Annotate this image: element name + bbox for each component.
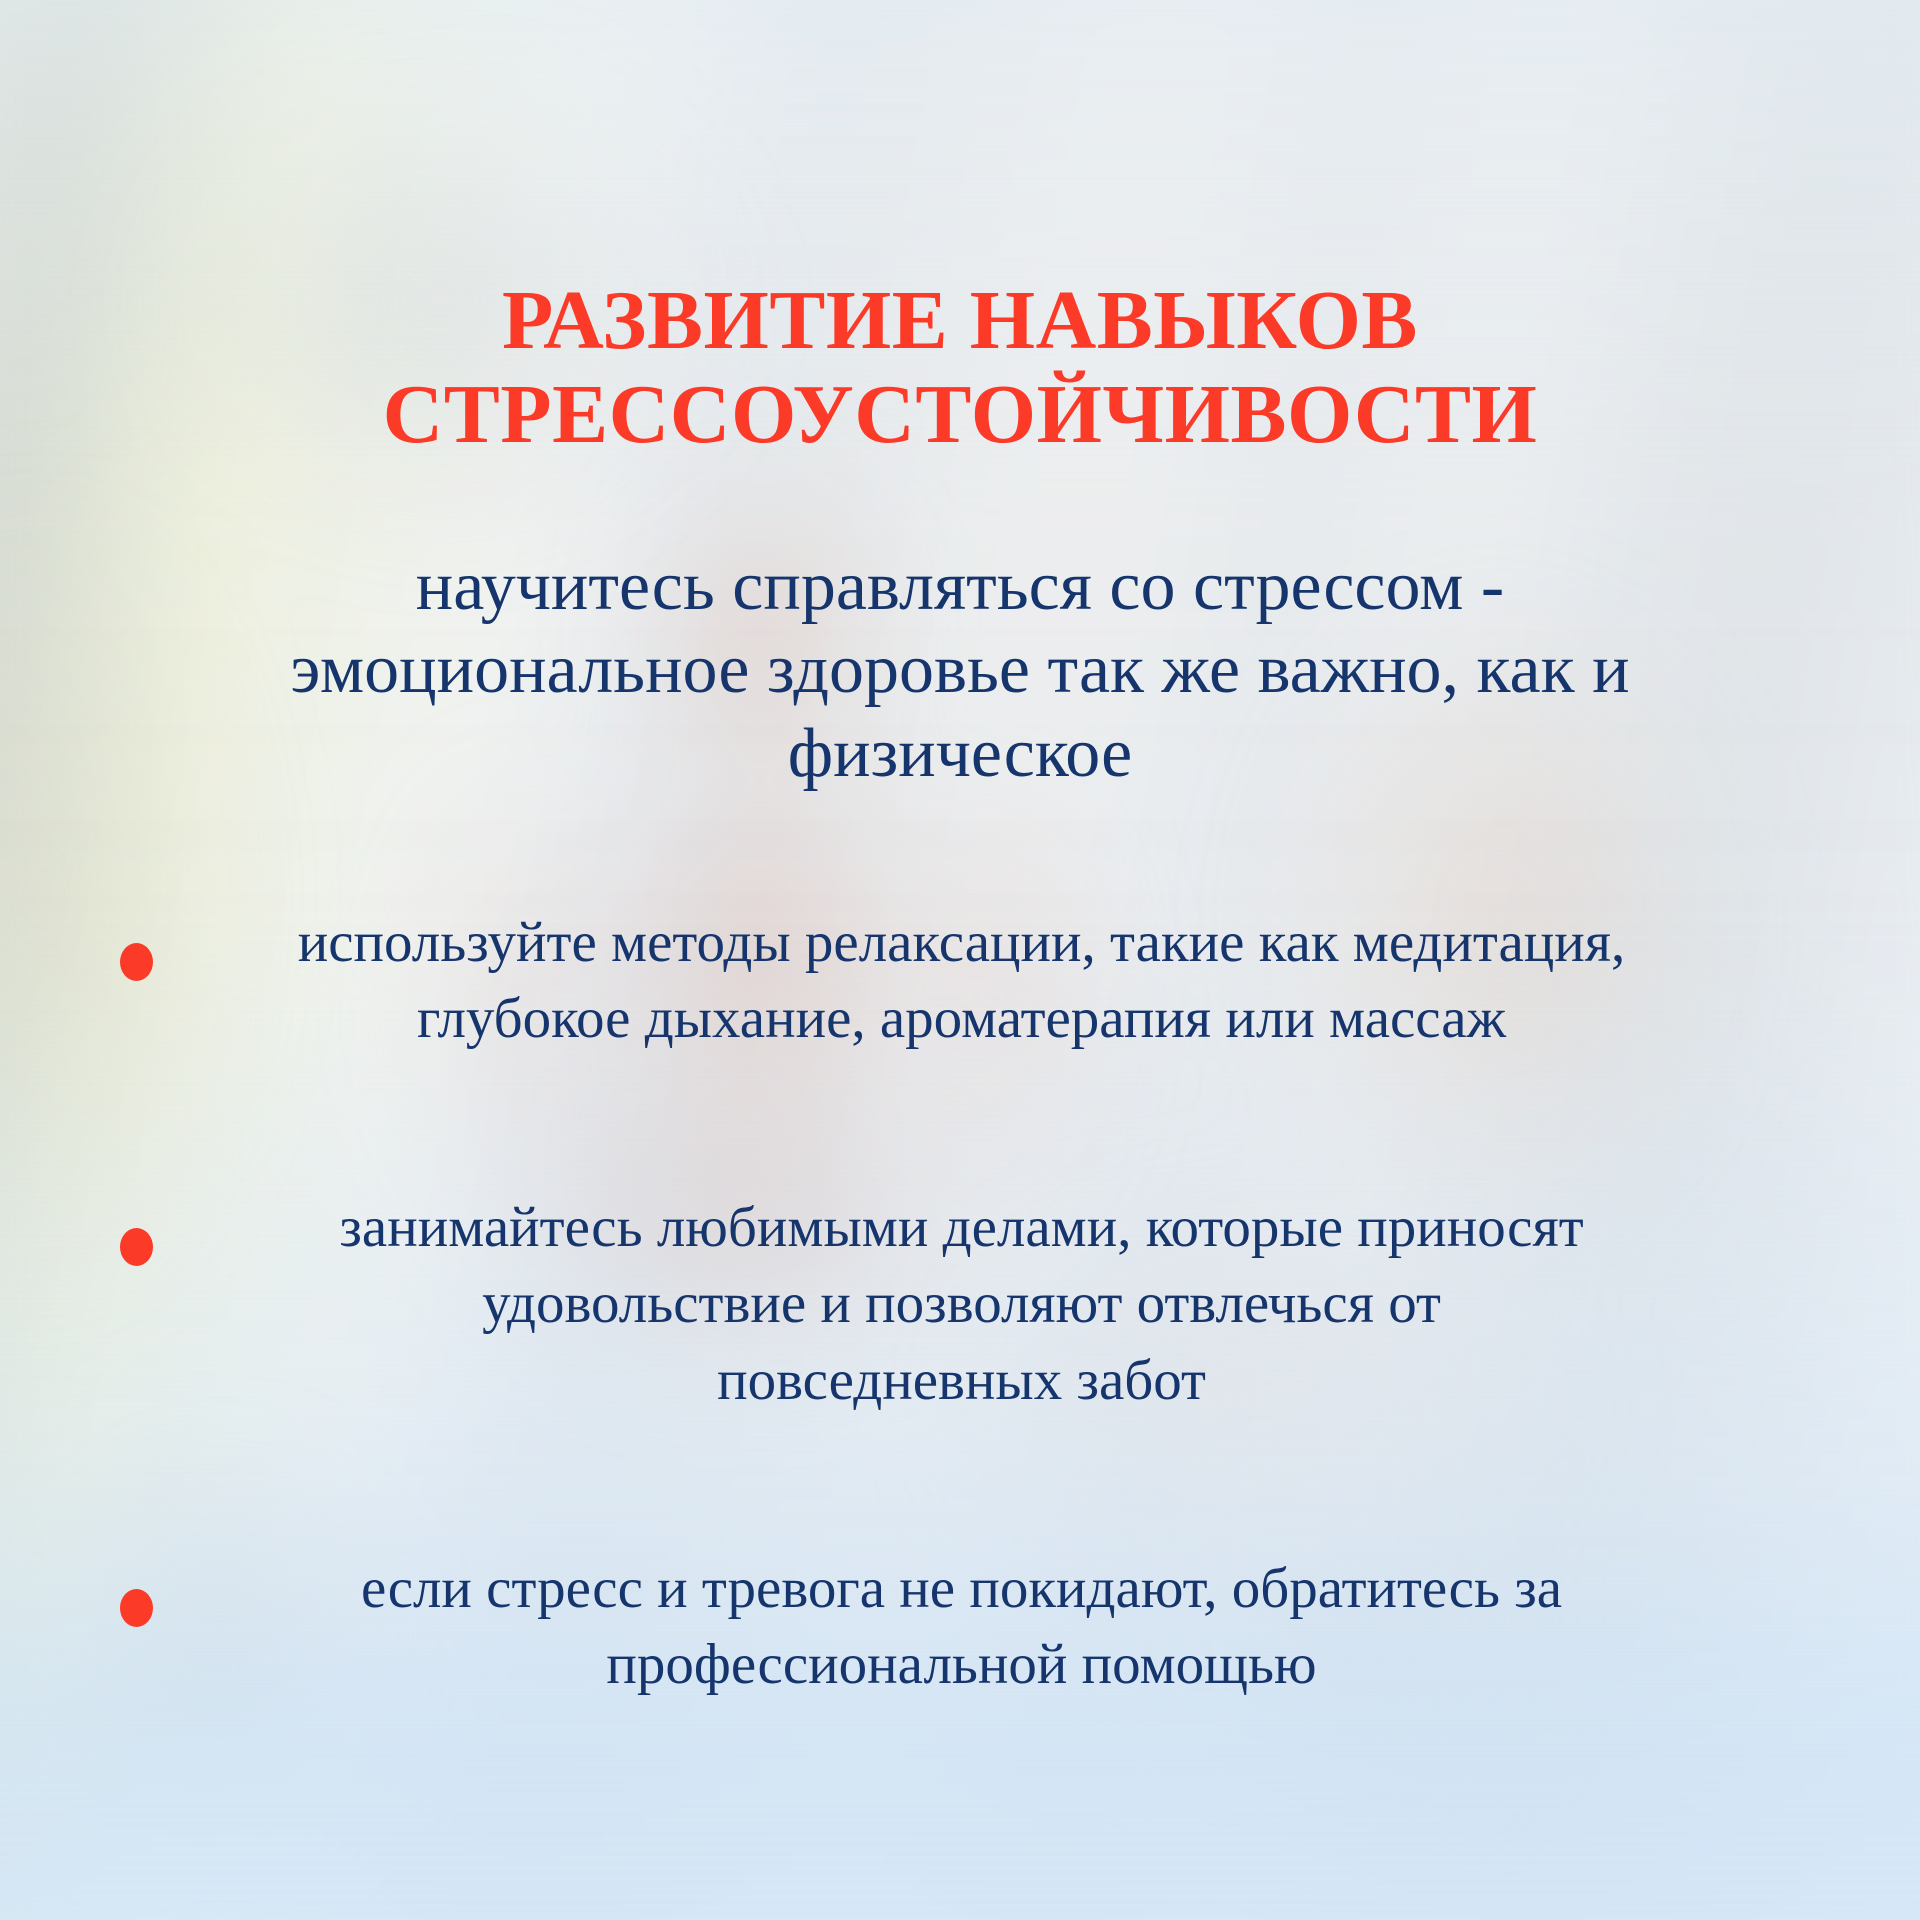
subtitle-line-3: физическое <box>105 712 1815 795</box>
list-item-1-line-2: глубокое дыхание, ароматерапия или масса… <box>178 981 1745 1057</box>
list-item-2-line-1: занимайтесь любимыми делами, которые при… <box>178 1190 1745 1266</box>
red-dot-bullet-icon <box>120 1589 153 1627</box>
poster-content: РАЗВИТИЕ НАВЫКОВ СТРЕССОУСТОЙЧИВОСТИ нау… <box>0 0 1920 1920</box>
title-line-2: СТРЕССОУСТОЙЧИВОСТИ <box>180 368 1740 462</box>
subtitle-line-1: научитесь справляться со стрессом - <box>105 545 1815 628</box>
list-item-2-line-3: повседневных забот <box>178 1343 1745 1419</box>
subtitle-line-2: эмоциональное здоровье так же важно, как… <box>105 628 1815 711</box>
list-item: используйте методы релаксации, такие как… <box>0 905 1920 1058</box>
list-item-text: используйте методы релаксации, такие как… <box>0 905 1920 1058</box>
page-title: РАЗВИТИЕ НАВЫКОВ СТРЕССОУСТОЙЧИВОСТИ <box>0 274 1920 462</box>
red-dot-bullet-icon <box>120 1228 153 1266</box>
title-line-1: РАЗВИТИЕ НАВЫКОВ <box>180 274 1740 368</box>
list-item-1-line-1: используйте методы релаксации, такие как… <box>178 905 1745 981</box>
list-item-text: занимайтесь любимыми делами, которые при… <box>0 1190 1920 1419</box>
list-item-text: если стресс и тревога не покидают, обрат… <box>0 1551 1920 1704</box>
list-item-2-line-2: удовольствие и позволяют отвлечься от <box>178 1266 1745 1342</box>
list-item-3-line-2: профессиональной помощью <box>178 1627 1745 1703</box>
page-subtitle: научитесь справляться со стрессом - эмоц… <box>0 545 1920 795</box>
list-item-3-line-1: если стресс и тревога не покидают, обрат… <box>178 1551 1745 1627</box>
advice-list: используйте методы релаксации, такие как… <box>0 905 1920 1704</box>
list-item: если стресс и тревога не покидают, обрат… <box>0 1551 1920 1704</box>
red-dot-bullet-icon <box>120 943 153 981</box>
poster-root: РАЗВИТИЕ НАВЫКОВ СТРЕССОУСТОЙЧИВОСТИ нау… <box>0 0 1920 1920</box>
list-item: занимайтесь любимыми делами, которые при… <box>0 1190 1920 1419</box>
